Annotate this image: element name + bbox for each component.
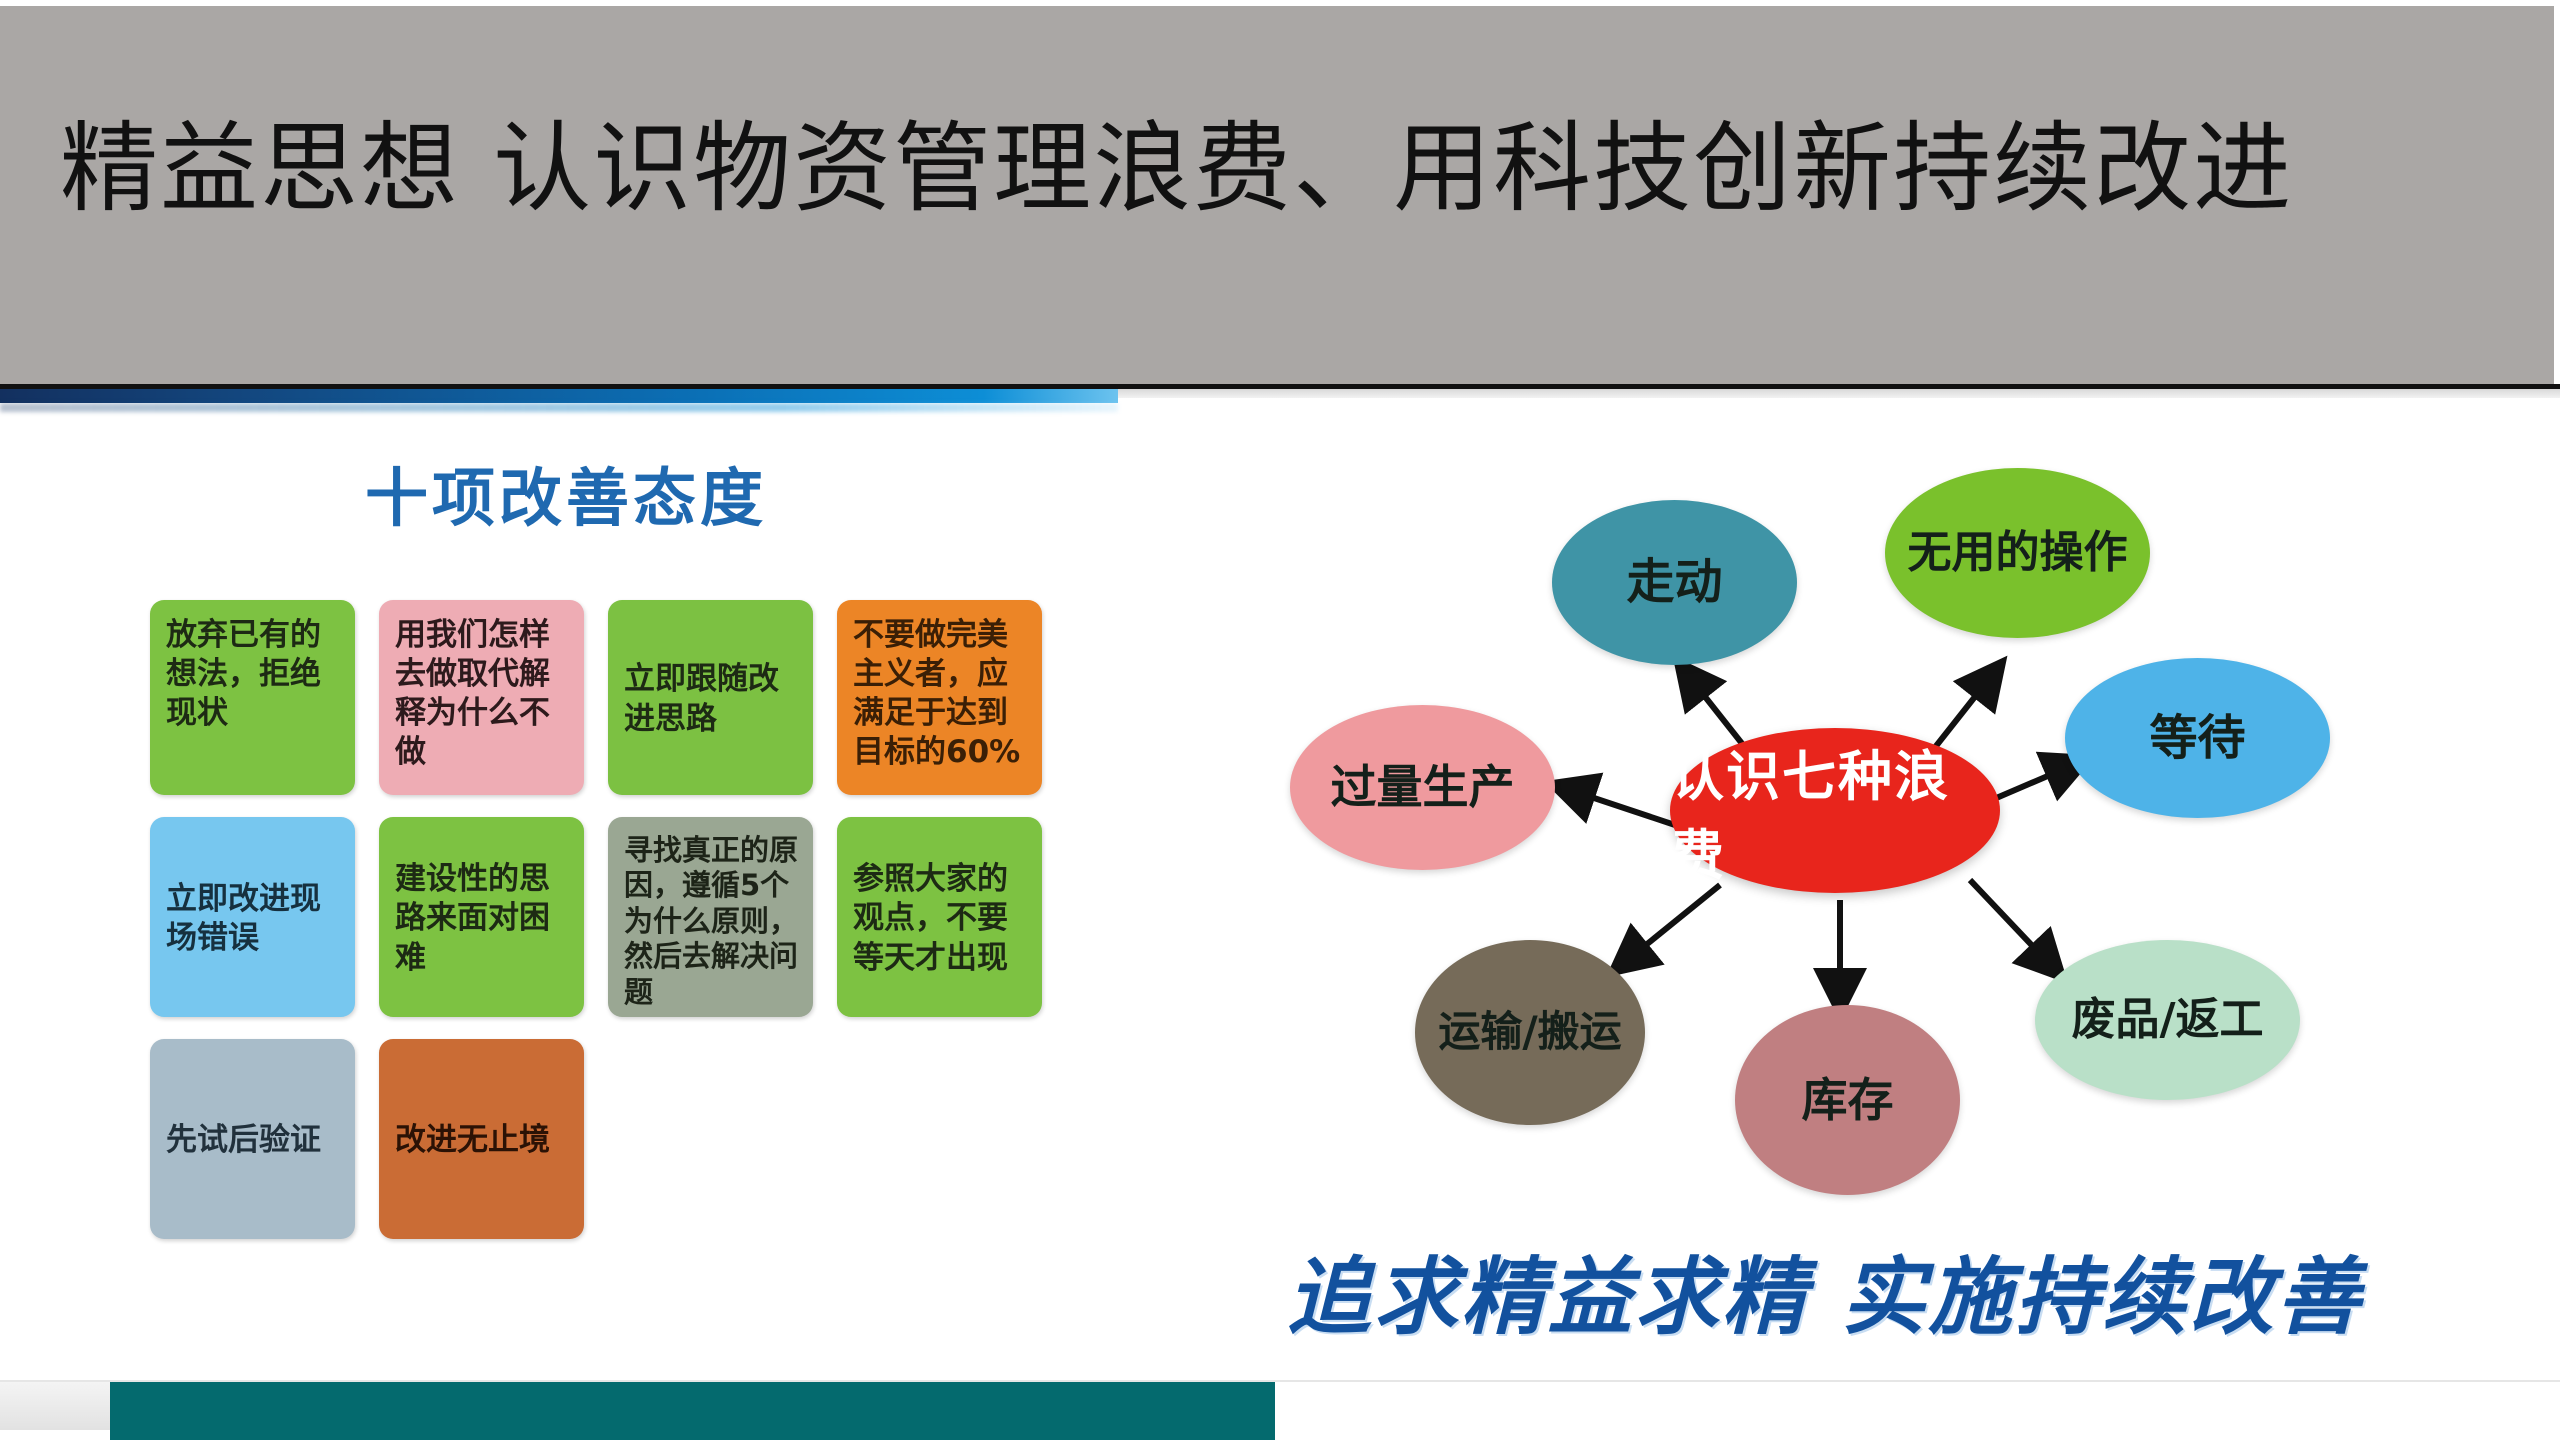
- attitude-card-5[interactable]: 立即改进现场错误: [150, 817, 355, 1017]
- attitude-card-3[interactable]: 立即跟随改进思路: [608, 600, 813, 795]
- seven-wastes-panel: 认识七种浪费 走动 无用的操作 等待 废品/返工 库存 运输/搬运 过量生产 追…: [1180, 430, 2470, 1380]
- footer-left-stub: [0, 1382, 110, 1430]
- accent-bar-tail: [1118, 389, 2560, 398]
- attitude-card-6[interactable]: 建设性的思路来面对困难: [379, 817, 584, 1017]
- attitude-card-10[interactable]: 改进无止境: [379, 1039, 584, 1239]
- waste-bubble-wuyong-caozuo[interactable]: 无用的操作: [1885, 468, 2150, 638]
- waste-bubble-guoliang-shengchan[interactable]: 过量生产: [1290, 705, 1555, 870]
- ten-attitudes-panel: 十项改善态度 放弃已有的想法，拒绝现状 用我们怎样去做取代解释为什么不做 立即跟…: [150, 430, 1080, 1370]
- slide-header: 精益思想 认识物资管理浪费、用科技创新持续改进: [0, 0, 2557, 390]
- waste-bubble-dengdai[interactable]: 等待: [2065, 658, 2330, 818]
- attitude-card-2[interactable]: 用我们怎样去做取代解释为什么不做: [379, 600, 584, 795]
- attitudes-row-3: 先试后验证 改进无止境: [150, 1039, 1050, 1239]
- footer-band: [110, 1382, 1275, 1440]
- ten-attitudes-heading: 十项改善态度: [365, 448, 767, 539]
- waste-bubble-feipin-fangong[interactable]: 废品/返工: [2035, 940, 2300, 1100]
- attitudes-row-2: 立即改进现场错误 建设性的思路来面对困难 寻找真正的原因，遵循5个为什么原则，然…: [150, 817, 1050, 1017]
- attitude-card-7[interactable]: 寻找真正的原因，遵循5个为什么原则，然后去解决问题: [608, 817, 813, 1017]
- waste-bubble-yunshu-banyun[interactable]: 运输/搬运: [1415, 940, 1645, 1125]
- waste-hub[interactable]: 认识七种浪费: [1670, 728, 2000, 893]
- attitude-card-1[interactable]: 放弃已有的想法，拒绝现状: [150, 600, 355, 795]
- slide-canvas: 精益思想 认识物资管理浪费、用科技创新持续改进 十项改善态度 放弃已有的想法，拒…: [0, 0, 2560, 1440]
- page-title: 精益思想 认识物资管理浪费、用科技创新持续改进: [60, 118, 2293, 221]
- attitudes-grid: 放弃已有的想法，拒绝现状 用我们怎样去做取代解释为什么不做 立即跟随改进思路 不…: [150, 600, 1050, 1261]
- attitudes-row-1: 放弃已有的想法，拒绝现状 用我们怎样去做取代解释为什么不做 立即跟随改进思路 不…: [150, 600, 1050, 795]
- header-right-edge: [2554, 6, 2557, 396]
- attitude-card-4[interactable]: 不要做完美主义者，应满足于达到目标的60%: [837, 600, 1042, 795]
- attitude-card-9[interactable]: 先试后验证: [150, 1039, 355, 1239]
- lean-slogan-banner: 追求精益求精 实施持续改善: [1180, 1230, 2470, 1351]
- attitude-card-8[interactable]: 参照大家的观点，不要等天才出现: [837, 817, 1042, 1017]
- waste-bubbles-group: 认识七种浪费 走动 无用的操作 等待 废品/返工 库存 运输/搬运 过量生产: [1180, 430, 2470, 1230]
- accent-bar-glow: [0, 403, 1118, 412]
- waste-bubble-kucun[interactable]: 库存: [1735, 1005, 1960, 1195]
- waste-bubble-zoudong[interactable]: 走动: [1552, 500, 1797, 665]
- accent-bar: [0, 389, 1118, 403]
